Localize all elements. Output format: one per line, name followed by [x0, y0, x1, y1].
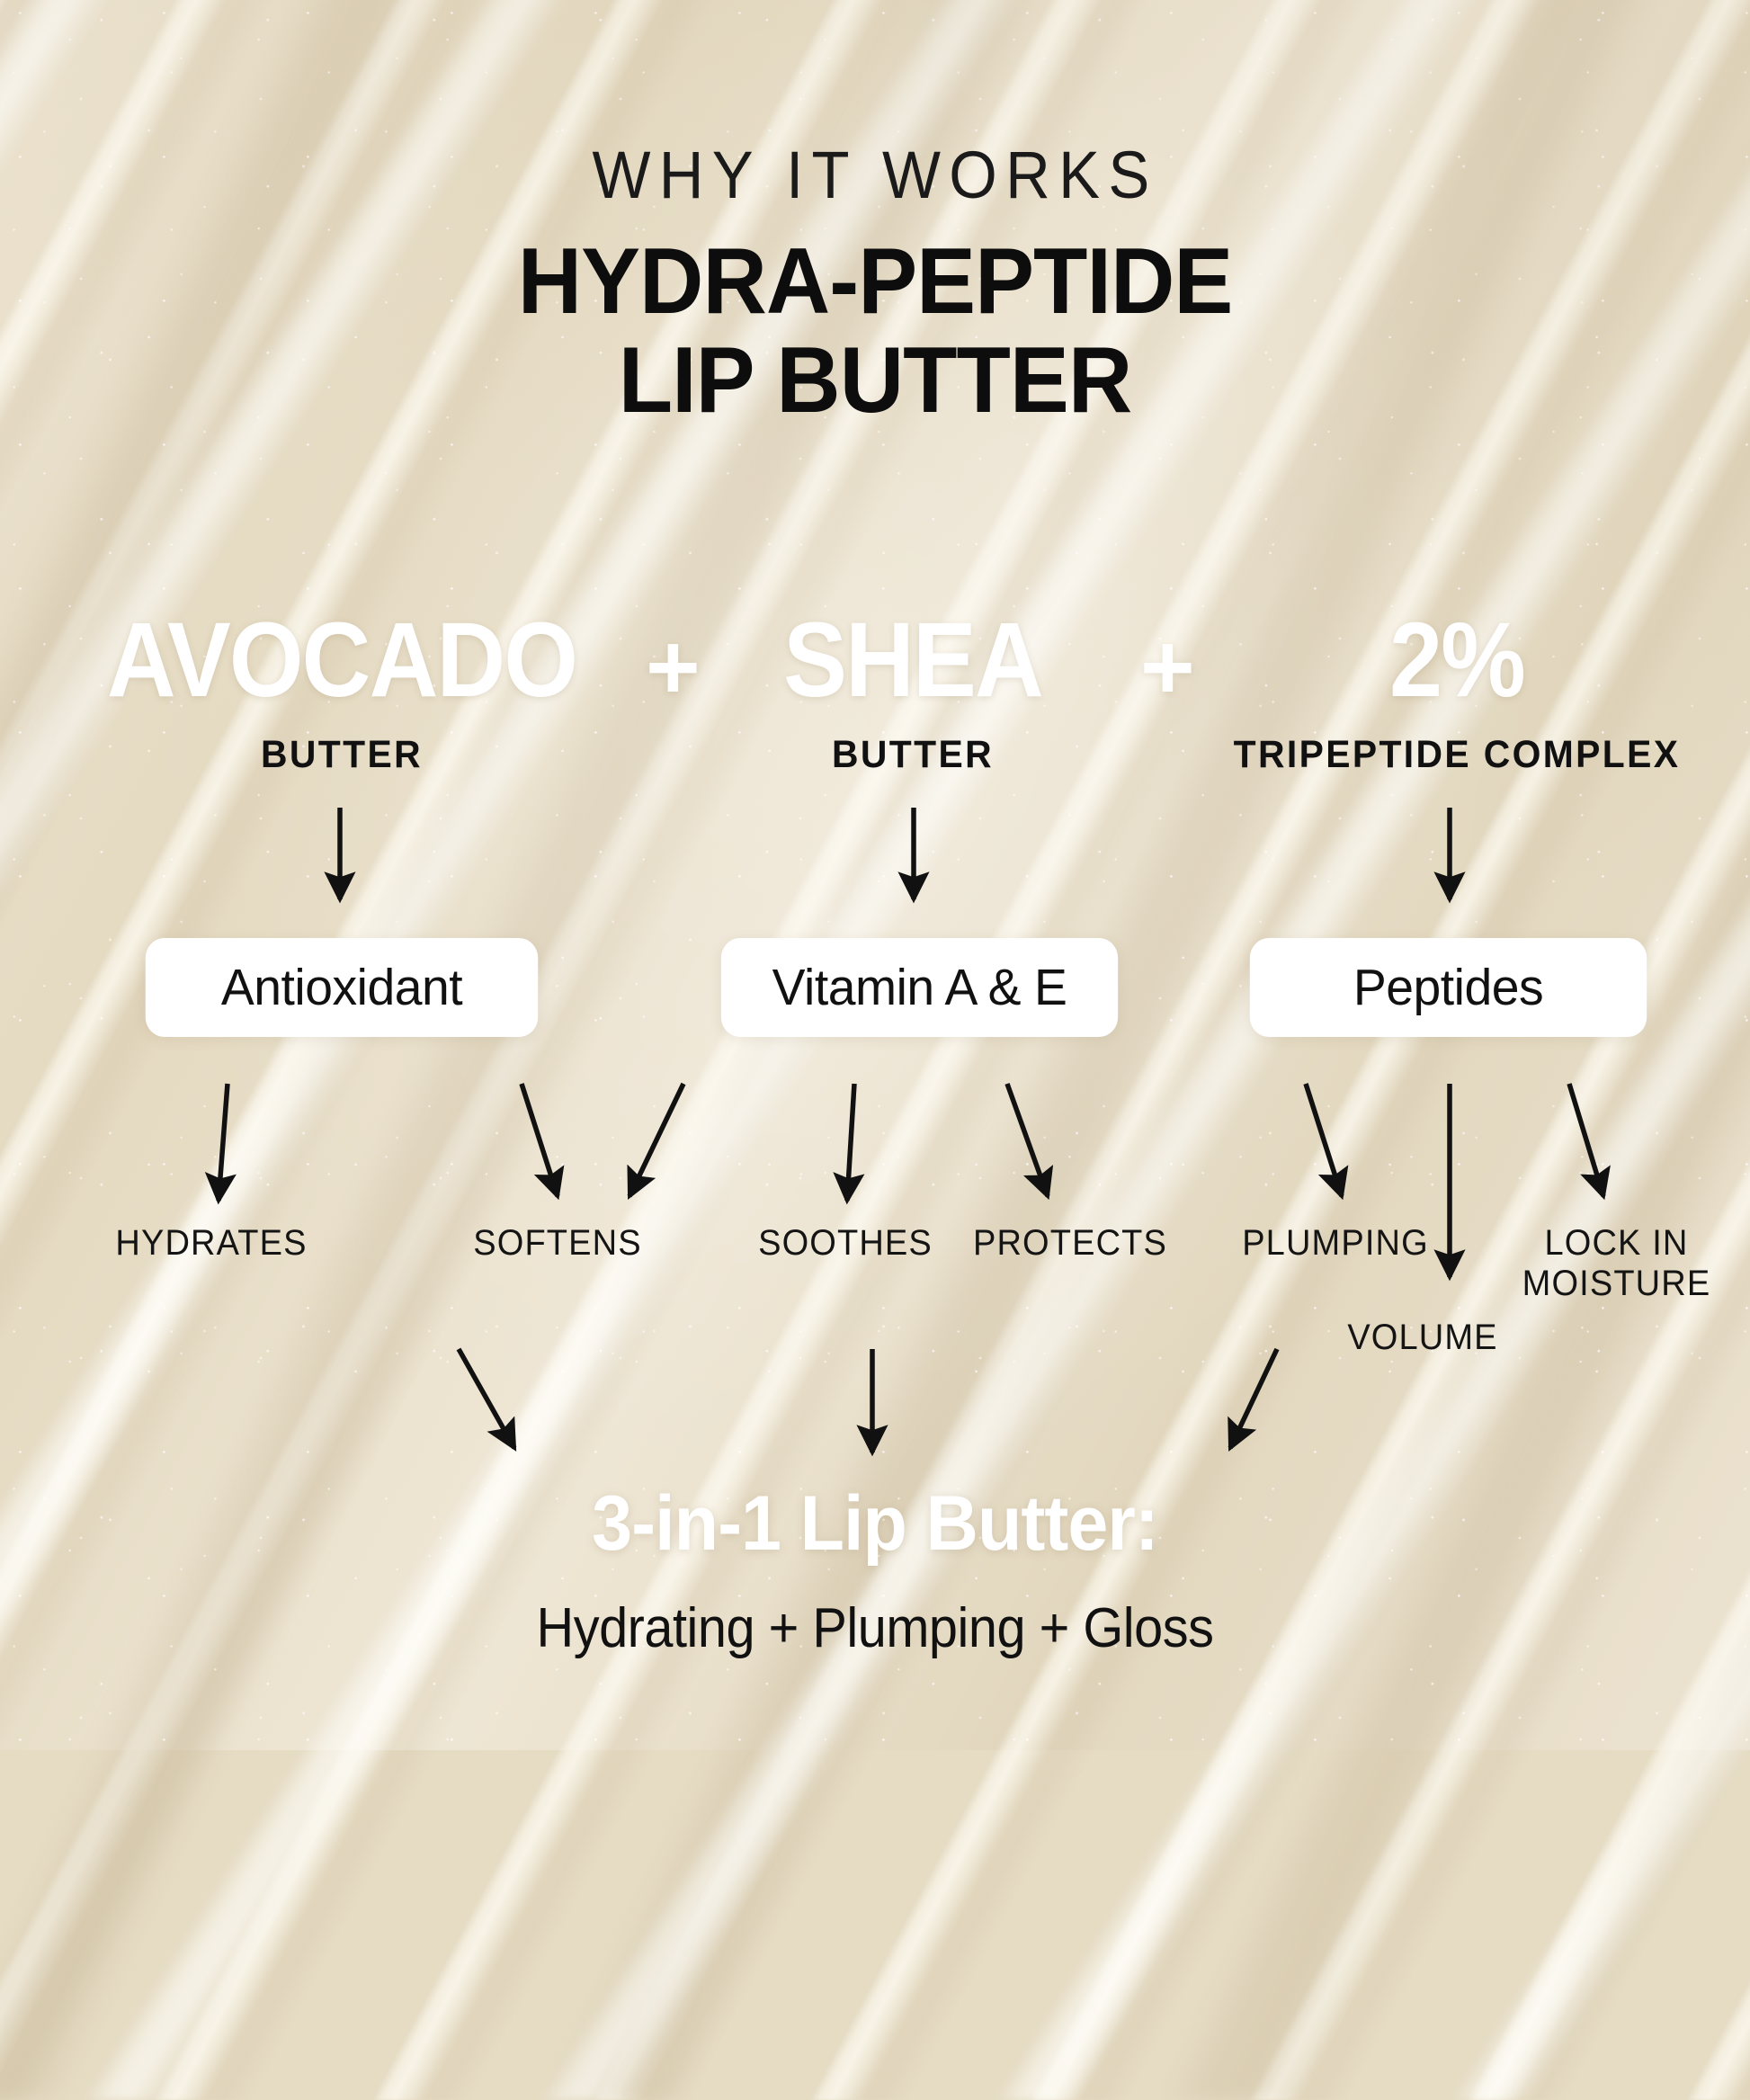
result-headline: 3-in-1 Lip Butter: — [52, 1479, 1697, 1568]
page-title-line2: LIP BUTTER — [44, 333, 1707, 428]
plus-sign-2: + — [1140, 621, 1195, 714]
benefit-plumping: PLUMPING — [1194, 1223, 1477, 1264]
ingredient-shea: SHEA BUTTER — [719, 607, 1106, 777]
benefit-volume: VOLUME — [1320, 1318, 1525, 1358]
ingredient-avocado: AVOCADO BUTTER — [54, 607, 629, 777]
ingredient-tripeptide: 2% TRIPEPTIDE COMPLEX — [1205, 607, 1709, 777]
ingredient-tripeptide-name: 2% — [1230, 607, 1683, 713]
ingredient-avocado-name: AVOCADO — [83, 607, 601, 713]
active-pill-vitamin-a-e[interactable]: Vitamin A & E — [721, 938, 1118, 1037]
ingredient-shea-name: SHEA — [739, 607, 1087, 713]
result-subline: Hydrating + Plumping + Gloss — [61, 1596, 1689, 1660]
benefit-hydrates: HYDRATES — [75, 1223, 348, 1264]
page-eyebrow: WHY IT WORKS — [61, 137, 1689, 213]
benefit-softens: SOFTENS — [433, 1223, 682, 1264]
page-title-line1: HYDRA-PEPTIDE — [44, 234, 1707, 329]
plus-sign-1: + — [646, 621, 701, 714]
ingredient-avocado-sub: BUTTER — [68, 733, 615, 777]
benefit-protects: PROTECTS — [929, 1223, 1211, 1264]
active-pill-peptides[interactable]: Peptides — [1250, 938, 1647, 1037]
benefit-lock-in-moisture: LOCK IN MOISTURE — [1495, 1223, 1738, 1304]
ingredient-shea-sub: BUTTER — [729, 733, 1097, 777]
ingredient-tripeptide-sub: TRIPEPTIDE COMPLEX — [1218, 733, 1696, 777]
active-pill-antioxidant[interactable]: Antioxidant — [146, 938, 539, 1037]
